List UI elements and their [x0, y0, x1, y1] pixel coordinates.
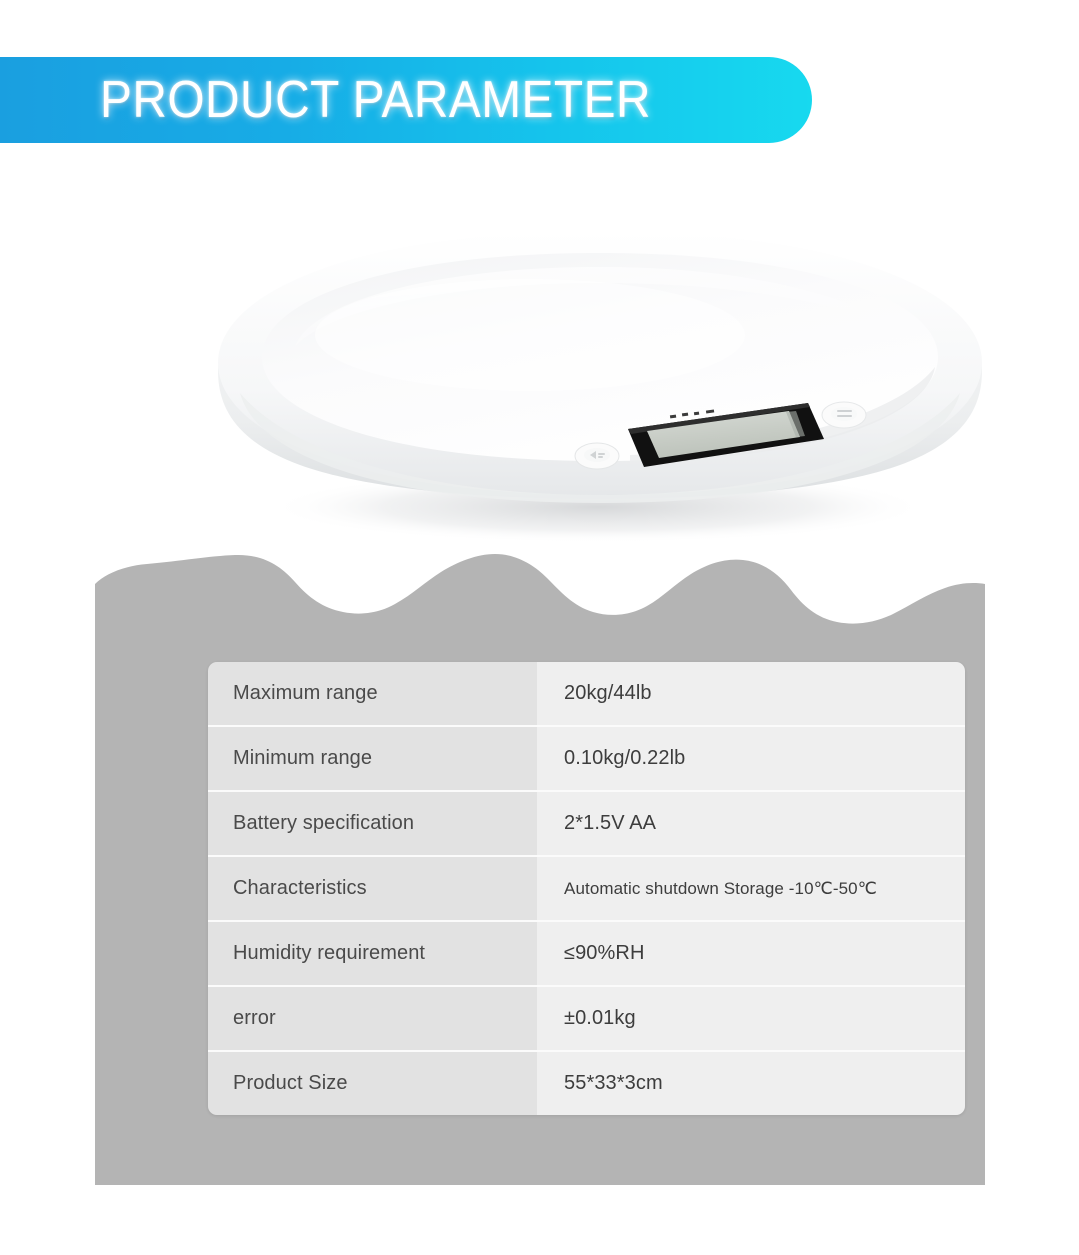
- spec-value: 2*1.5V AA: [537, 792, 965, 855]
- product-image: [200, 215, 1000, 545]
- spec-table: Maximum range 20kg/44lb Minimum range 0.…: [208, 662, 965, 1115]
- spec-value: ≤90%RH: [537, 922, 965, 985]
- spec-label: error: [208, 987, 537, 1050]
- spec-label: Humidity requirement: [208, 922, 537, 985]
- table-row: Characteristics Automatic shutdown Stora…: [208, 857, 965, 922]
- table-row: Minimum range 0.10kg/0.22lb: [208, 727, 965, 792]
- table-row: error ±0.01kg: [208, 987, 965, 1052]
- spec-value: 55*33*3cm: [537, 1052, 965, 1115]
- table-row: Product Size 55*33*3cm: [208, 1052, 965, 1115]
- table-row: Humidity requirement ≤90%RH: [208, 922, 965, 987]
- spec-value: 20kg/44lb: [537, 662, 965, 725]
- spec-label: Battery specification: [208, 792, 537, 855]
- page-header-banner: PRODUCT PARAMETER: [0, 57, 812, 143]
- spec-label: Minimum range: [208, 727, 537, 790]
- spec-value: 0.10kg/0.22lb: [537, 727, 965, 790]
- spec-value: ±0.01kg: [537, 987, 965, 1050]
- spec-label: Maximum range: [208, 662, 537, 725]
- table-row: Maximum range 20kg/44lb: [208, 662, 965, 727]
- spec-label: Product Size: [208, 1052, 537, 1115]
- spec-panel: Maximum range 20kg/44lb Minimum range 0.…: [95, 552, 985, 1185]
- spec-value: Automatic shutdown Storage -10℃-50℃: [537, 857, 965, 920]
- spec-label: Characteristics: [208, 857, 537, 920]
- page-title: PRODUCT PARAMETER: [100, 74, 651, 126]
- table-row: Battery specification 2*1.5V AA: [208, 792, 965, 857]
